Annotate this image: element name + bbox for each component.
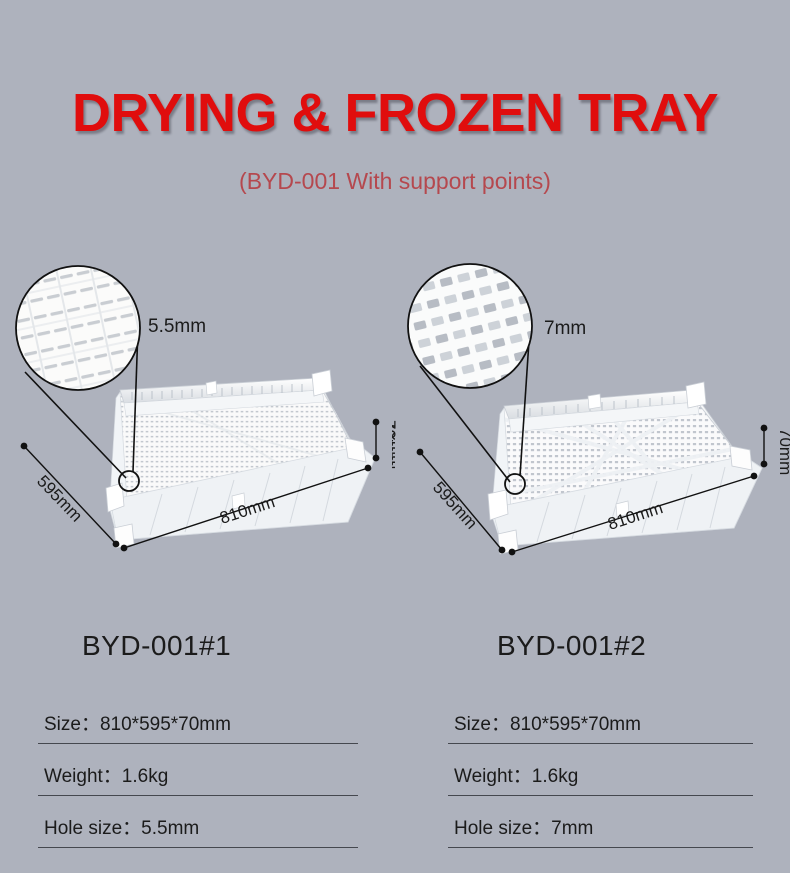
spec-row: Size：810*595*70mm <box>38 705 358 744</box>
spec-table-byd-001-2: Size：810*595*70mm Weight：1.6kg Hole size… <box>448 705 753 848</box>
product-illustration-byd-001-2: 7mm 595mm 810mm 70mm <box>392 250 787 570</box>
dimension-height-right-edge: 70mm <box>392 420 399 467</box>
svg-text:595mm: 595mm <box>429 478 481 533</box>
callout-label-left: 5.5mm <box>148 316 206 337</box>
dimension-width-left: 595mm <box>21 443 120 548</box>
spec-row: Hole size：5.5mm <box>38 809 358 848</box>
product-name-byd-001-2: BYD-001#2 <box>497 630 646 662</box>
tray-drawing-right: 7mm 595mm 810mm 70mm <box>392 250 790 570</box>
page-title: DRYING & FROZEN TRAY <box>0 82 790 144</box>
spec-label: Weight： <box>454 766 532 787</box>
svg-text:70mm: 70mm <box>776 428 790 475</box>
infographic-page: DRYING & FROZEN TRAY (BYD-001 With suppo… <box>0 0 790 873</box>
spec-table-byd-001-1: Size：810*595*70mm Weight：1.6kg Hole size… <box>38 705 358 848</box>
callout-label-right: 7mm <box>544 318 586 339</box>
tray-drawing-left: 5.5mm 595mm 810mm 70mm <box>0 250 395 570</box>
product-name-byd-001-1: BYD-001#1 <box>82 630 231 662</box>
product-illustration-byd-001-1: 5.5mm 595mm 810mm 70mm <box>0 250 395 570</box>
spec-value: 1.6kg <box>122 766 168 787</box>
spec-row: Weight：1.6kg <box>38 757 358 796</box>
spec-label: Size： <box>454 714 510 735</box>
spec-row: Hole size：7mm <box>448 809 753 848</box>
magnifier-bubble-left <box>16 266 140 390</box>
spec-row: Weight：1.6kg <box>448 757 753 796</box>
spec-row: Size：810*595*70mm <box>448 705 753 744</box>
spec-value: 810*595*70mm <box>100 714 231 735</box>
spec-value: 1.6kg <box>532 766 578 787</box>
spec-value: 5.5mm <box>141 818 199 839</box>
magnifier-bubble-right <box>408 264 532 388</box>
svg-text:595mm: 595mm <box>33 472 86 526</box>
dimension-height-right: 70mm <box>761 425 790 476</box>
page-subtitle: (BYD-001 With support points) <box>0 168 790 195</box>
spec-value: 810*595*70mm <box>510 714 641 735</box>
spec-label: Hole size： <box>454 818 551 839</box>
spec-label: Hole size： <box>44 818 141 839</box>
spec-label: Size： <box>44 714 100 735</box>
svg-text:70mm: 70mm <box>392 420 399 467</box>
spec-value: 7mm <box>551 818 593 839</box>
spec-label: Weight： <box>44 766 122 787</box>
